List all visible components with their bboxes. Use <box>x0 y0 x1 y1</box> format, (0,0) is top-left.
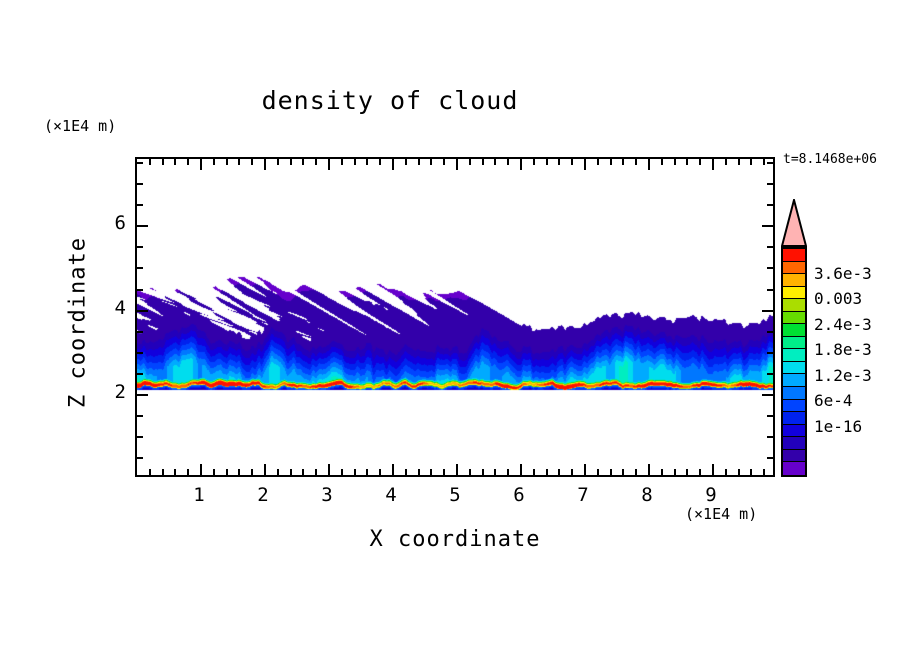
x-axis-tick <box>251 469 253 475</box>
x-axis-tick <box>200 159 202 170</box>
colorbar-band <box>783 437 805 450</box>
x-axis-tick <box>366 469 368 475</box>
x-axis-tick <box>674 159 676 165</box>
x-axis-tick <box>546 159 548 165</box>
colorbar-band <box>783 387 805 400</box>
x-axis-tick <box>571 159 573 165</box>
x-axis-tick <box>149 159 151 165</box>
y-axis-unit-label: (×1E4 m) <box>44 117 116 135</box>
colorbar-tick-label: 6e-4 <box>814 391 853 410</box>
x-axis-tick <box>686 159 688 165</box>
y-axis-tick <box>137 331 143 333</box>
y-axis-tick <box>767 204 773 206</box>
x-axis-tick <box>213 159 215 165</box>
x-axis-tick <box>405 159 407 165</box>
colorbar-tick-label: 1.2e-3 <box>814 366 872 385</box>
colorbar-band <box>783 450 805 463</box>
colorbar-band <box>783 374 805 387</box>
x-axis-tick <box>430 469 432 475</box>
y-axis-tick <box>767 331 773 333</box>
x-axis-tick <box>507 469 509 475</box>
x-axis-tick <box>558 469 560 475</box>
y-axis-tick <box>767 457 773 459</box>
x-axis-tick <box>469 159 471 165</box>
x-axis-tick <box>712 159 714 170</box>
x-tick-label: 1 <box>179 484 219 506</box>
y-axis-tick <box>137 415 143 417</box>
x-axis-unit-label: (×1E4 m) <box>685 505 757 523</box>
x-axis-tick <box>648 464 650 475</box>
colorbar-tick-label: 1.8e-3 <box>814 340 872 359</box>
x-axis-tick <box>533 159 535 165</box>
x-axis-tick <box>392 464 394 475</box>
x-tick-label: 6 <box>499 484 539 506</box>
x-axis-tick <box>738 469 740 475</box>
x-axis-tick <box>686 469 688 475</box>
x-tick-label: 9 <box>691 484 731 506</box>
y-axis-tick <box>137 267 143 269</box>
x-axis-tick <box>238 159 240 165</box>
y-axis-tick <box>137 373 143 375</box>
y-axis-tick <box>137 457 143 459</box>
x-axis-tick <box>635 469 637 475</box>
x-axis-tick <box>456 159 458 170</box>
colorbar-band <box>783 274 805 287</box>
contour-plot-area <box>135 157 775 477</box>
x-axis-tick <box>238 469 240 475</box>
x-axis-tick <box>264 159 266 170</box>
y-axis-tick <box>767 183 773 185</box>
colorbar-band <box>783 412 805 425</box>
x-axis-tick <box>661 469 663 475</box>
x-tick-label: 3 <box>307 484 347 506</box>
x-axis-tick <box>763 469 765 475</box>
x-axis-tick <box>443 469 445 475</box>
colorbar-band <box>783 462 805 475</box>
x-axis-tick <box>494 469 496 475</box>
x-axis-tick <box>520 464 522 475</box>
page-title: density of cloud <box>0 86 780 115</box>
x-axis-tick <box>763 159 765 165</box>
x-axis-tick <box>418 469 420 475</box>
x-axis-tick <box>482 469 484 475</box>
y-axis-tick <box>137 352 143 354</box>
colorbar-band <box>783 312 805 325</box>
x-axis-tick <box>174 159 176 165</box>
colorbar-tick-label: 2.4e-3 <box>814 315 872 334</box>
y-axis-tick <box>767 373 773 375</box>
x-axis-tick <box>456 464 458 475</box>
x-axis-tick <box>584 159 586 170</box>
y-axis-tick <box>762 394 773 396</box>
x-axis-tick <box>226 159 228 165</box>
y-tick-label: 6 <box>86 212 126 234</box>
x-axis-tick <box>558 159 560 165</box>
x-axis-tick <box>328 464 330 475</box>
y-axis-tick <box>137 162 143 164</box>
colorbar-tick-label: 0.003 <box>814 289 862 308</box>
x-axis-tick <box>635 159 637 165</box>
x-axis-tick <box>725 159 727 165</box>
x-axis-tick <box>187 159 189 165</box>
x-axis-tick <box>290 469 292 475</box>
x-axis-tick <box>315 159 317 165</box>
x-axis-tick <box>430 159 432 165</box>
x-axis-tick <box>443 159 445 165</box>
x-axis-tick <box>174 469 176 475</box>
colorbar-max-arrow-icon <box>781 199 807 247</box>
y-tick-label: 2 <box>86 381 126 403</box>
colorbar-band <box>783 299 805 312</box>
y-axis-tick <box>767 289 773 291</box>
x-axis-tick <box>469 469 471 475</box>
colorbar-band <box>783 249 805 262</box>
x-axis-tick <box>610 159 612 165</box>
x-axis-tick <box>699 469 701 475</box>
x-axis-tick <box>162 469 164 475</box>
colorbar-band <box>783 337 805 350</box>
colorbar-band <box>783 425 805 438</box>
x-axis-tick <box>533 469 535 475</box>
y-axis-tick <box>137 394 148 396</box>
x-axis-tick <box>213 469 215 475</box>
colorbar-band-stack <box>781 247 807 477</box>
x-axis-tick <box>648 159 650 170</box>
x-axis-tick <box>725 469 727 475</box>
x-axis-title: X coordinate <box>135 527 775 552</box>
x-axis-tick <box>597 469 599 475</box>
x-axis-tick <box>251 159 253 165</box>
x-axis-tick <box>149 469 151 475</box>
colorbar-band <box>783 262 805 275</box>
x-axis-tick <box>584 464 586 475</box>
x-axis-tick <box>315 469 317 475</box>
x-axis-tick <box>392 159 394 170</box>
y-axis-tick <box>137 183 143 185</box>
x-axis-tick <box>379 159 381 165</box>
x-axis-tick <box>379 469 381 475</box>
colorbar-band <box>783 287 805 300</box>
y-axis-tick <box>767 162 773 164</box>
x-tick-label: 8 <box>627 484 667 506</box>
y-axis-tick <box>767 436 773 438</box>
y-axis-tick <box>767 352 773 354</box>
x-axis-tick <box>341 159 343 165</box>
x-axis-tick <box>482 159 484 165</box>
x-axis-tick <box>520 159 522 170</box>
y-axis-tick <box>137 246 143 248</box>
colorbar <box>781 199 807 477</box>
x-axis-tick <box>494 159 496 165</box>
x-axis-tick <box>507 159 509 165</box>
y-axis-tick <box>767 267 773 269</box>
x-axis-tick <box>661 159 663 165</box>
colorbar-band <box>783 349 805 362</box>
x-axis-tick <box>354 159 356 165</box>
y-axis-tick <box>137 204 143 206</box>
x-axis-tick <box>610 469 612 475</box>
y-axis-tick <box>137 225 148 227</box>
x-axis-tick <box>277 469 279 475</box>
x-axis-tick <box>405 469 407 475</box>
x-axis-tick <box>622 159 624 165</box>
y-axis-tick <box>762 310 773 312</box>
x-axis-tick <box>750 469 752 475</box>
x-axis-tick <box>597 159 599 165</box>
x-axis-tick <box>571 469 573 475</box>
x-axis-tick <box>302 469 304 475</box>
y-axis-tick <box>137 436 143 438</box>
x-axis-tick <box>162 159 164 165</box>
colorbar-tick-label: 3.6e-3 <box>814 264 872 283</box>
x-axis-tick <box>328 159 330 170</box>
x-axis-tick <box>354 469 356 475</box>
colorbar-band <box>783 400 805 413</box>
colorbar-band <box>783 362 805 375</box>
x-tick-label: 4 <box>371 484 411 506</box>
y-axis-tick <box>767 246 773 248</box>
y-axis-tick <box>137 289 143 291</box>
x-axis-tick <box>712 464 714 475</box>
density-field-canvas <box>137 159 773 475</box>
x-axis-tick <box>738 159 740 165</box>
x-axis-tick <box>290 159 292 165</box>
x-axis-tick <box>264 464 266 475</box>
x-axis-tick <box>699 159 701 165</box>
colorbar-tick-label: 1e-16 <box>814 417 862 436</box>
y-axis-tick <box>137 310 148 312</box>
x-axis-tick <box>200 464 202 475</box>
x-tick-label: 5 <box>435 484 475 506</box>
x-axis-tick <box>302 159 304 165</box>
y-axis-tick <box>767 415 773 417</box>
x-axis-tick <box>226 469 228 475</box>
y-tick-label: 4 <box>86 297 126 319</box>
x-axis-tick <box>341 469 343 475</box>
x-tick-label: 7 <box>563 484 603 506</box>
colorbar-band <box>783 324 805 337</box>
y-axis-tick <box>762 225 773 227</box>
x-axis-tick <box>622 469 624 475</box>
x-axis-tick <box>187 469 189 475</box>
x-axis-tick <box>277 159 279 165</box>
x-axis-tick <box>366 159 368 165</box>
x-axis-tick <box>546 469 548 475</box>
x-axis-tick <box>750 159 752 165</box>
x-tick-label: 2 <box>243 484 283 506</box>
x-axis-tick <box>418 159 420 165</box>
x-axis-tick <box>674 469 676 475</box>
timestamp-annotation: t=8.1468e+06 <box>783 152 877 167</box>
